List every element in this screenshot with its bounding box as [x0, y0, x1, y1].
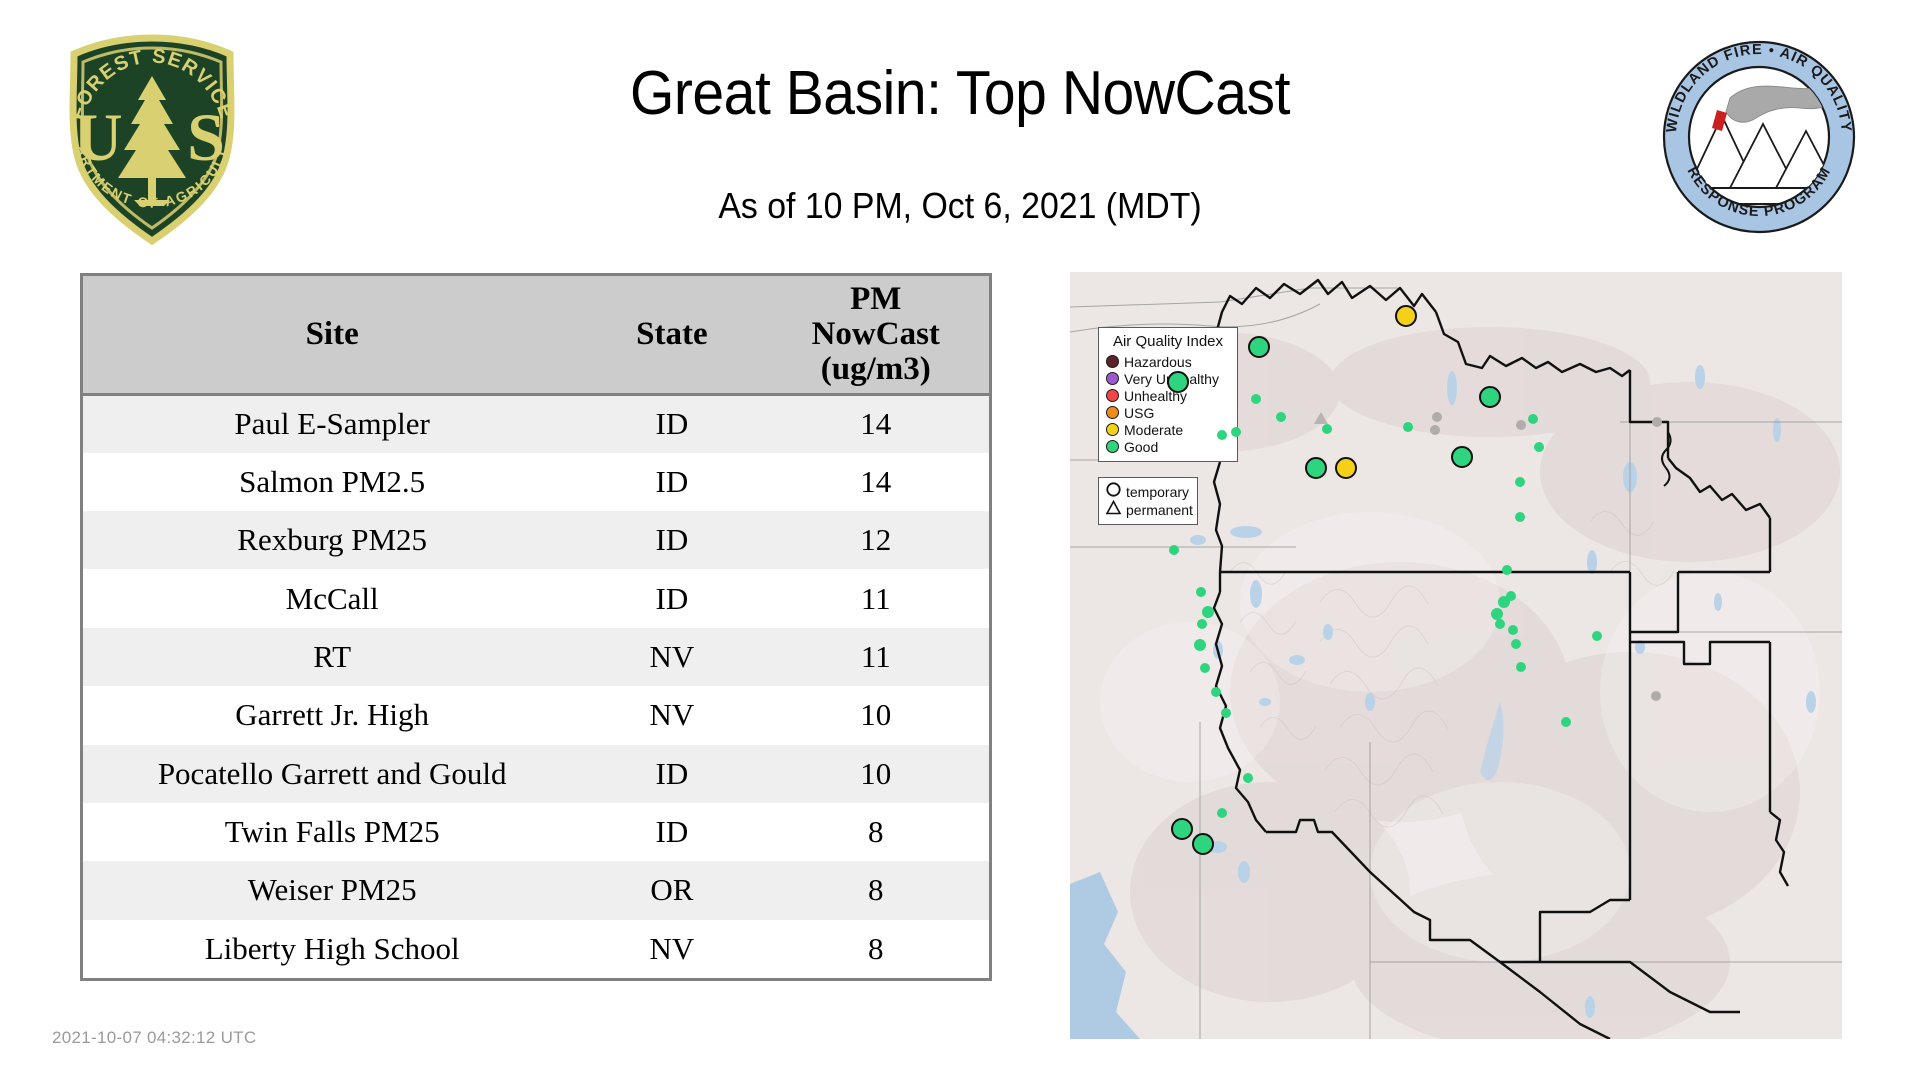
map-monitor-marker[interactable]: [1534, 442, 1544, 452]
map-monitor-marker[interactable]: [1243, 773, 1253, 783]
site-type-legend: temporary permanent: [1098, 477, 1198, 525]
pm-nowcast-cell: 11: [762, 569, 989, 627]
map-monitor-marker[interactable]: [1403, 422, 1413, 432]
map-monitor-marker[interactable]: [1479, 386, 1501, 408]
site-cell: Garrett Jr. High: [83, 686, 581, 744]
triangle-outline-icon: [1105, 499, 1122, 521]
aqi-legend-label: Good: [1124, 440, 1158, 454]
table-row: Twin Falls PM25ID8: [83, 803, 989, 861]
map-monitor-marker[interactable]: [1197, 619, 1207, 629]
map-monitor-marker[interactable]: [1322, 424, 1332, 434]
aqi-swatch-icon: [1106, 440, 1119, 453]
site-cell: Weiser PM25: [83, 861, 581, 919]
state-cell: NV: [581, 920, 762, 978]
pm-nowcast-cell: 14: [762, 394, 989, 452]
table-row: Liberty High SchoolNV8: [83, 920, 989, 978]
state-cell: ID: [581, 745, 762, 803]
aqi-legend-label: Hazardous: [1124, 355, 1192, 369]
aqi-legend-item: USG: [1106, 404, 1230, 421]
table-row: Weiser PM25OR8: [83, 861, 989, 919]
nowcast-table-container: Site State PM NowCast (ug/m3) Paul E-Sam…: [80, 273, 992, 981]
aqi-legend-label: USG: [1124, 406, 1154, 420]
map-monitor-marker[interactable]: [1167, 371, 1189, 393]
map-monitor-marker[interactable]: [1169, 545, 1179, 555]
site-cell: Paul E-Sampler: [83, 394, 581, 452]
map-monitor-marker[interactable]: [1592, 631, 1602, 641]
map-monitor-marker[interactable]: [1506, 591, 1516, 601]
state-cell: ID: [581, 803, 762, 861]
map-monitor-marker[interactable]: [1221, 708, 1231, 718]
map-monitor-marker[interactable]: [1211, 687, 1221, 697]
map-monitor-marker[interactable]: [1231, 427, 1241, 437]
site-cell: Liberty High School: [83, 920, 581, 978]
map-monitor-marker[interactable]: [1508, 625, 1518, 635]
map-monitor-marker[interactable]: [1276, 412, 1286, 422]
site-cell: Twin Falls PM25: [83, 803, 581, 861]
map-monitor-marker[interactable]: [1248, 336, 1270, 358]
pm-nowcast-cell: 11: [762, 628, 989, 686]
map-monitor-marker[interactable]: [1196, 587, 1206, 597]
pm-nowcast-cell: 10: [762, 686, 989, 744]
table-row: Salmon PM2.5ID14: [83, 453, 989, 511]
map-monitor-marker[interactable]: [1200, 663, 1210, 673]
map-monitor-marker[interactable]: [1502, 565, 1512, 575]
site-cell: RT: [83, 628, 581, 686]
aqi-legend-item: Moderate: [1106, 421, 1230, 438]
map-monitor-marker[interactable]: [1511, 639, 1521, 649]
state-cell: NV: [581, 686, 762, 744]
table-body: Paul E-SamplerID14Salmon PM2.5ID14Rexbur…: [83, 394, 989, 978]
pm-nowcast-cell: 12: [762, 511, 989, 569]
table-row: Rexburg PM25ID12: [83, 511, 989, 569]
pm-nowcast-cell: 10: [762, 745, 989, 803]
table-header-row: Site State PM NowCast (ug/m3): [83, 276, 989, 394]
page-subtitle: As of 10 PM, Oct 6, 2021 (MDT): [340, 185, 1581, 227]
map-monitor-marker[interactable]: [1528, 414, 1538, 424]
pm-nowcast-cell: 8: [762, 803, 989, 861]
aqi-legend-label: Moderate: [1124, 423, 1183, 437]
pm-nowcast-cell: 14: [762, 453, 989, 511]
column-header-site: Site: [83, 276, 581, 394]
map-monitor-marker[interactable]: [1451, 446, 1473, 468]
map-monitor-marker[interactable]: [1171, 818, 1193, 840]
site-cell: Pocatello Garrett and Gould: [83, 745, 581, 803]
site-type-label-temporary: temporary: [1126, 485, 1189, 499]
pm-nowcast-cell: 8: [762, 861, 989, 919]
map-monitor-marker[interactable]: [1251, 394, 1261, 404]
table-row: McCallID11: [83, 569, 989, 627]
site-type-label-permanent: permanent: [1126, 503, 1193, 517]
table-row: Paul E-SamplerID14: [83, 394, 989, 452]
map-monitor-marker[interactable]: [1515, 477, 1525, 487]
map-monitor-marker[interactable]: [1516, 662, 1526, 672]
site-cell: Rexburg PM25: [83, 511, 581, 569]
state-cell: ID: [581, 569, 762, 627]
site-cell: McCall: [83, 569, 581, 627]
table-row: RTNV11: [83, 628, 989, 686]
map-monitor-marker[interactable]: [1305, 457, 1327, 479]
map-monitor-marker[interactable]: [1217, 808, 1227, 818]
map-monitor-marker[interactable]: [1194, 639, 1206, 651]
aqi-legend-item: Unhealthy: [1106, 387, 1230, 404]
air-quality-map[interactable]: Air Quality Index HazardousVery Unhealth…: [1070, 272, 1842, 1039]
map-monitor-marker[interactable]: [1395, 305, 1417, 327]
aqi-legend-item: Good: [1106, 438, 1230, 455]
column-header-pm-nowcast: PM NowCast (ug/m3): [762, 276, 989, 394]
aqi-swatch-icon: [1106, 406, 1119, 419]
aqi-swatch-icon: [1106, 423, 1119, 436]
nowcast-table: Site State PM NowCast (ug/m3) Paul E-Sam…: [83, 276, 989, 978]
pm-header-line1: PM: [766, 282, 985, 317]
column-header-state: State: [581, 276, 762, 394]
table-header: Site State PM NowCast (ug/m3): [83, 276, 989, 394]
map-monitor-marker[interactable]: [1217, 430, 1227, 440]
pm-nowcast-cell: 8: [762, 920, 989, 978]
state-cell: NV: [581, 628, 762, 686]
map-monitor-marker[interactable]: [1335, 457, 1357, 479]
aqi-legend: Air Quality Index HazardousVery Unhealth…: [1098, 327, 1238, 462]
table-row: Pocatello Garrett and GouldID10: [83, 745, 989, 803]
footer-timestamp: 2021-10-07 04:32:12 UTC: [52, 1028, 256, 1048]
state-cell: ID: [581, 394, 762, 452]
usfs-shield-logo: FOREST SERVICE U S DEPARTMENT OF AGRICUL…: [52, 32, 252, 247]
map-monitor-marker[interactable]: [1561, 717, 1571, 727]
map-monitor-marker[interactable]: [1495, 619, 1505, 629]
map-monitor-marker[interactable]: [1202, 606, 1214, 618]
page-title: Great Basin: Top NowCast: [353, 58, 1567, 129]
slide-root: FOREST SERVICE U S DEPARTMENT OF AGRICUL…: [0, 0, 1920, 1080]
aqi-swatch-icon: [1106, 355, 1119, 368]
site-type-row-permanent: permanent: [1105, 501, 1191, 519]
state-cell: ID: [581, 511, 762, 569]
pm-header-line3: (ug/m3): [766, 352, 985, 387]
aqi-legend-item: Hazardous: [1106, 353, 1230, 370]
pm-header-line2: NowCast: [766, 317, 985, 352]
aqi-legend-rows: HazardousVery UnhealthyUnhealthyUSGModer…: [1106, 353, 1230, 455]
map-monitor-marker[interactable]: [1515, 512, 1525, 522]
state-cell: ID: [581, 453, 762, 511]
site-cell: Salmon PM2.5: [83, 453, 581, 511]
table-row: Garrett Jr. HighNV10: [83, 686, 989, 744]
map-monitor-marker[interactable]: [1192, 833, 1214, 855]
aqi-legend-title: Air Quality Index: [1106, 333, 1230, 350]
aqi-swatch-icon: [1106, 372, 1119, 385]
aqi-swatch-icon: [1106, 389, 1119, 402]
wfaqrp-badge-logo: WILDLAND FIRE • AIR QUALITY RESPONSE PRO…: [1660, 38, 1858, 236]
state-cell: OR: [581, 861, 762, 919]
